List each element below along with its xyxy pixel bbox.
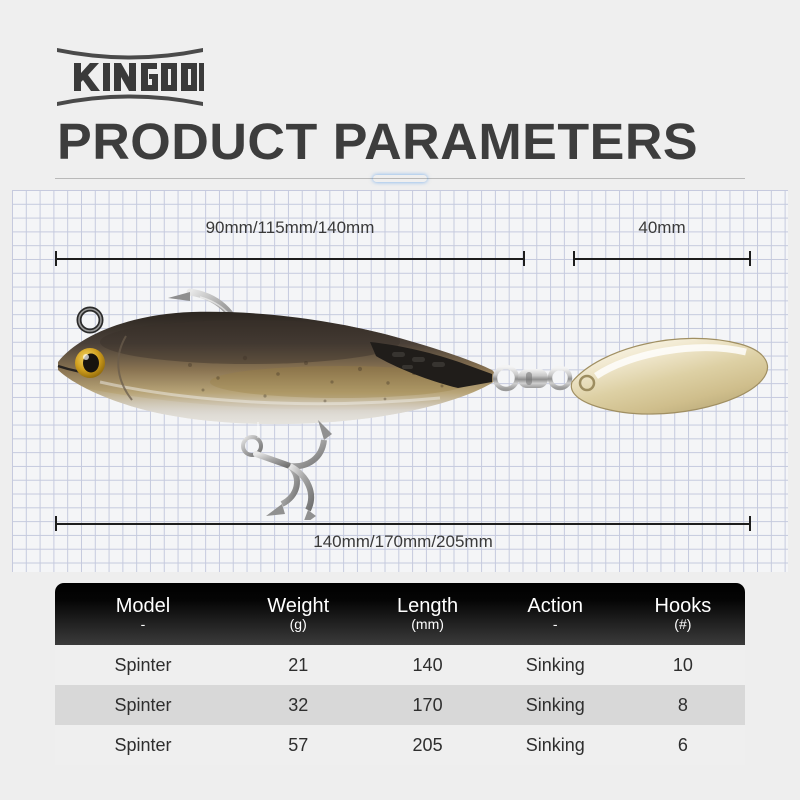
- blade-dimension-tick-right: [749, 251, 751, 266]
- spinner-blade: [571, 338, 767, 414]
- cell-weight: 32: [231, 695, 366, 716]
- cell-model: Spinter: [55, 655, 231, 676]
- cell-model: Spinter: [55, 735, 231, 756]
- cell-hooks: 6: [621, 735, 745, 756]
- cell-length: 140: [365, 655, 489, 676]
- table-row: Spinter 57 205 Sinking 6: [55, 725, 745, 765]
- column-header-action: Action -: [490, 596, 621, 633]
- blade-dimension-tick-left: [573, 251, 575, 266]
- table-header-row: Model - Weight (g) Length (mm) Action - …: [55, 583, 745, 645]
- column-header-model: Model -: [55, 596, 231, 633]
- cell-weight: 57: [231, 735, 366, 756]
- body-dimension-line: [55, 258, 525, 260]
- total-dimension-line: [55, 523, 751, 525]
- title-accent-bar: [373, 175, 427, 182]
- table-row: Spinter 21 140 Sinking 10: [55, 645, 745, 685]
- cell-model: Spinter: [55, 695, 231, 716]
- split-ring-swivel-icon: [495, 367, 570, 389]
- total-dimension-label: 140mm/170mm/205mm: [55, 532, 751, 552]
- cell-weight: 21: [231, 655, 366, 676]
- cell-action: Sinking: [490, 735, 621, 756]
- body-dimension-label: 90mm/115mm/140mm: [55, 218, 525, 238]
- body-dimension-tick-right: [523, 251, 525, 266]
- kingdom-logo: [55, 46, 205, 108]
- blade-dimension-line: [573, 258, 751, 260]
- cell-hooks: 10: [621, 655, 745, 676]
- cell-action: Sinking: [490, 695, 621, 716]
- table-row: Spinter 32 170 Sinking 8: [55, 685, 745, 725]
- cell-length: 170: [365, 695, 489, 716]
- body-dimension-tick-left: [55, 251, 57, 266]
- fishing-lure-illustration: [40, 270, 780, 520]
- belly-treble-hook-icon: [243, 418, 332, 520]
- cell-action: Sinking: [490, 655, 621, 676]
- page-header: PRODUCT PARAMETERS: [0, 0, 800, 190]
- column-header-hooks: Hooks (#): [621, 596, 745, 633]
- cell-length: 205: [365, 735, 489, 756]
- blade-dimension-label: 40mm: [573, 218, 751, 238]
- line-tie-eyelet-icon: [79, 309, 101, 331]
- parameters-table: Model - Weight (g) Length (mm) Action - …: [55, 583, 745, 765]
- lure-eye: [75, 348, 105, 378]
- column-header-length: Length (mm): [365, 596, 489, 633]
- column-header-weight: Weight (g): [231, 596, 366, 633]
- page-title: PRODUCT PARAMETERS: [57, 112, 698, 171]
- cell-hooks: 8: [621, 695, 745, 716]
